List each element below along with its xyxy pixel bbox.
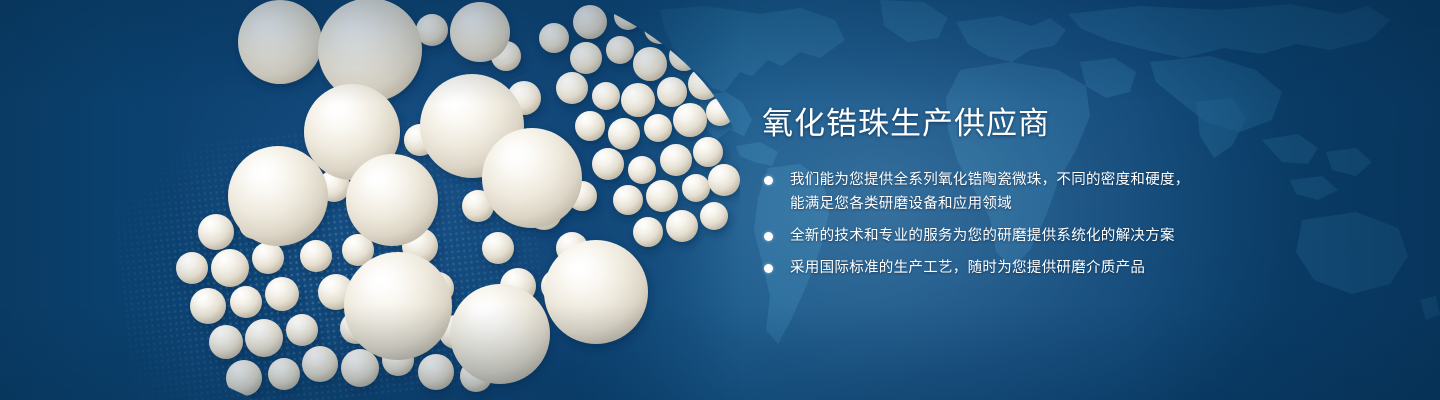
page-title: 氧化锆珠生产供应商 [762, 106, 1322, 142]
bullet-text-line: 我们能为您提供全系列氧化锆陶瓷微珠，不同的密度和硬度， [790, 168, 1322, 192]
list-item: 全新的技术和专业的服务为您的研磨提供系统化的解决方案 [762, 224, 1322, 248]
list-item: 我们能为您提供全系列氧化锆陶瓷微珠，不同的密度和硬度， 能满足您各类研磨设备和应… [762, 168, 1322, 216]
bullet-dot-icon [764, 176, 773, 185]
bullet-text-line: 全新的技术和专业的服务为您的研磨提供系统化的解决方案 [790, 224, 1322, 248]
feature-bullet-list: 我们能为您提供全系列氧化锆陶瓷微珠，不同的密度和硬度， 能满足您各类研磨设备和应… [762, 168, 1322, 280]
banner-copy: 氧化锆珠生产供应商 我们能为您提供全系列氧化锆陶瓷微珠，不同的密度和硬度， 能满… [762, 106, 1322, 280]
bullet-dot-icon [764, 264, 773, 273]
bullet-text-line: 采用国际标准的生产工艺，随时为您提供研磨介质产品 [790, 256, 1322, 280]
list-item: 采用国际标准的生产工艺，随时为您提供研磨介质产品 [762, 256, 1322, 280]
bullet-text-line: 能满足您各类研磨设备和应用领域 [790, 192, 1322, 216]
hero-banner: 氧化锆珠生产供应商 我们能为您提供全系列氧化锆陶瓷微珠，不同的密度和硬度， 能满… [0, 0, 1440, 400]
bullet-dot-icon [764, 232, 773, 241]
